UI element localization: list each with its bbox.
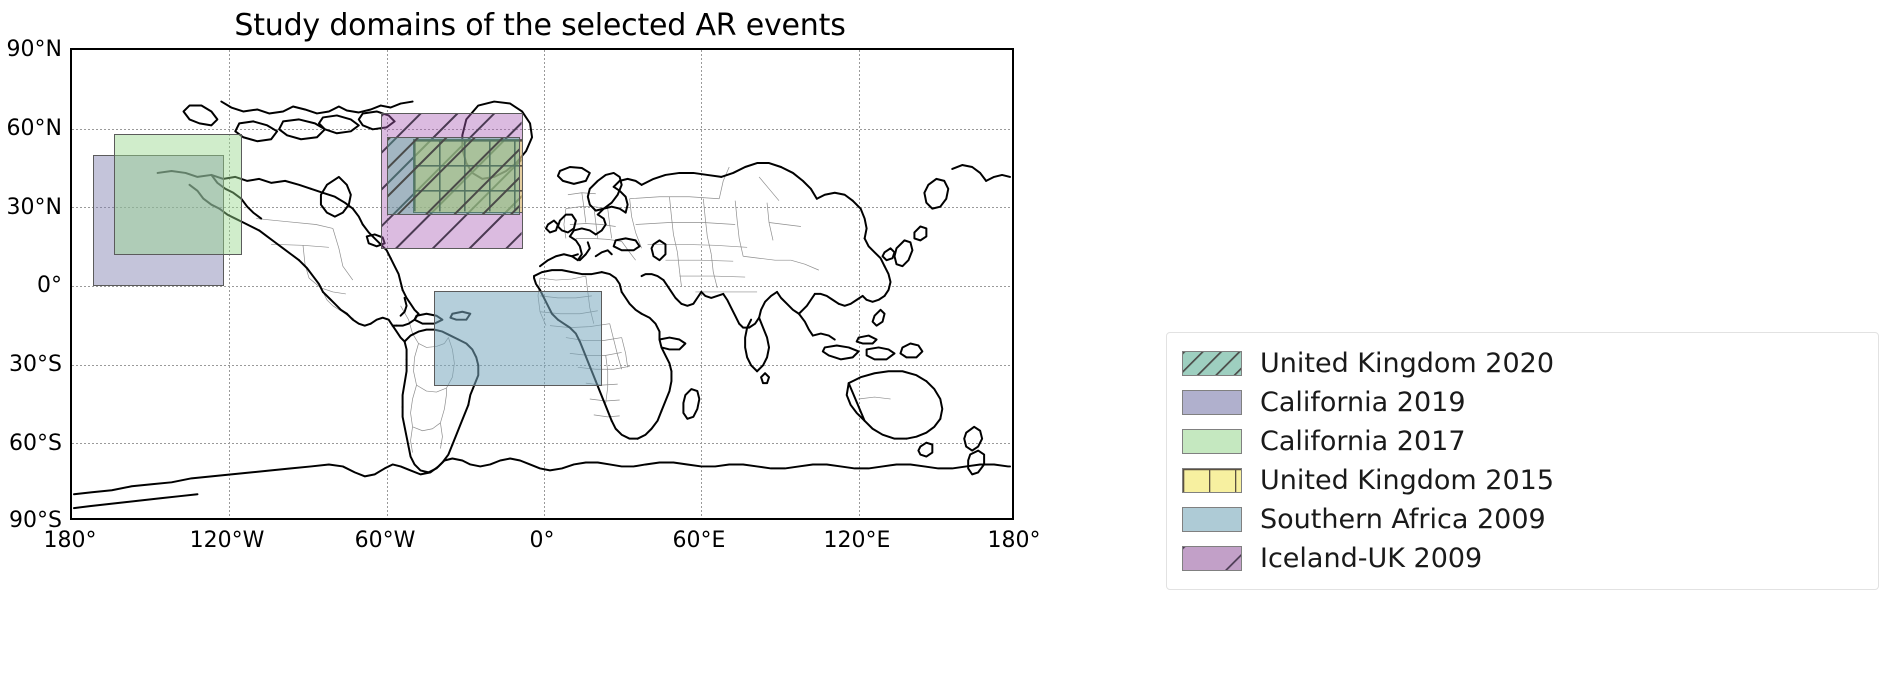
- legend-label-united-kingdom-2015: United Kingdom 2015: [1260, 467, 1554, 494]
- legend-swatch-southern-africa-2009: [1182, 507, 1242, 532]
- legend-swatch-california-2017: [1182, 429, 1242, 454]
- domain-box-california-2017[interactable]: [114, 134, 242, 255]
- legend-item-iceland-uk-2009[interactable]: Iceland-UK 2009: [1182, 539, 1864, 578]
- ytick-label-60s: 60°S: [0, 431, 62, 456]
- xtick-label-180w: 180°: [0, 528, 150, 553]
- map-axes[interactable]: [70, 48, 1014, 520]
- xtick-label-60e: 60°E: [619, 528, 779, 553]
- legend-item-southern-africa-2009[interactable]: Southern Africa 2009: [1182, 500, 1864, 539]
- legend-swatch-iceland-uk-2009: [1182, 546, 1242, 571]
- legend-label-iceland-uk-2009: Iceland-UK 2009: [1260, 545, 1482, 572]
- legend-swatch-california-2019: [1182, 390, 1242, 415]
- legend-item-united-kingdom-2020[interactable]: United Kingdom 2020: [1182, 344, 1864, 383]
- legend-label-united-kingdom-2020: United Kingdom 2020: [1260, 350, 1554, 377]
- xtick-label-120w: 120°W: [147, 528, 307, 553]
- page-title: Study domains of the selected AR events: [70, 8, 1010, 43]
- domain-box-united-kingdom-2020[interactable]: [387, 137, 521, 216]
- legend-label-southern-africa-2009: Southern Africa 2009: [1260, 506, 1546, 533]
- legend-swatch-united-kingdom-2020: [1182, 351, 1242, 376]
- map-canvas: [72, 50, 1012, 518]
- hatch-diagonal-uk-2020: [388, 138, 520, 215]
- legend-swatch-united-kingdom-2015: [1182, 468, 1242, 493]
- legend-label-california-2019: California 2019: [1260, 389, 1466, 416]
- figure: Study domains of the selected AR events: [0, 0, 1892, 677]
- xtick-label-180e: 180°: [934, 528, 1094, 553]
- ytick-label-30s: 30°S: [0, 352, 62, 377]
- ytick-label-0: 0°: [0, 273, 62, 298]
- xtick-label-120e: 120°E: [777, 528, 937, 553]
- legend-item-california-2019[interactable]: California 2019: [1182, 383, 1864, 422]
- xtick-label-0: 0°: [462, 528, 622, 553]
- legend-item-california-2017[interactable]: California 2017: [1182, 422, 1864, 461]
- domain-box-southern-africa-2009[interactable]: [434, 291, 602, 385]
- legend-label-california-2017: California 2017: [1260, 428, 1466, 455]
- legend[interactable]: United Kingdom 2020 California 2019 Cali…: [1166, 332, 1879, 590]
- legend-item-united-kingdom-2015[interactable]: United Kingdom 2015: [1182, 461, 1864, 500]
- xtick-label-60w: 60°W: [305, 528, 465, 553]
- ytick-label-90n: 90°N: [0, 37, 62, 62]
- ytick-label-30n: 30°N: [0, 195, 62, 220]
- ytick-label-60n: 60°N: [0, 116, 62, 141]
